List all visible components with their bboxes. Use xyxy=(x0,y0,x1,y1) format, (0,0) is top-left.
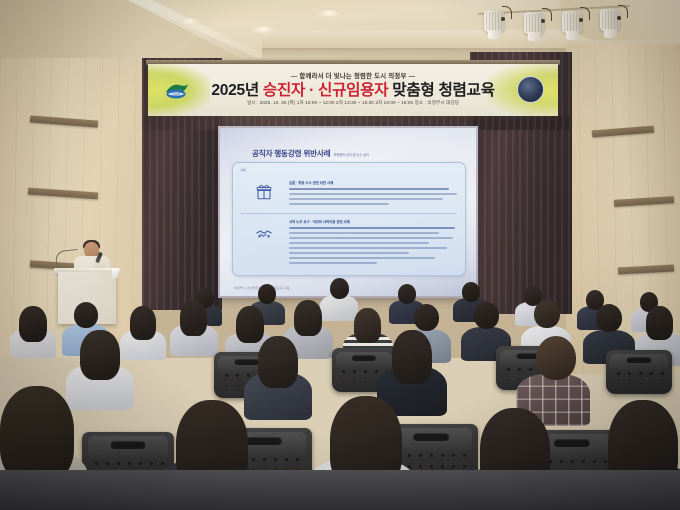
handshake-icon xyxy=(255,225,273,243)
recessed-downlight xyxy=(178,18,200,26)
slide-title: 공직자 행동강령 위반사례부정청탁 금지 및 수수 금지 xyxy=(252,148,369,159)
slide-section-tag: 사례 xyxy=(240,168,246,172)
projection-screen: 공직자 행동강령 위반사례부정청탁 금지 및 수수 금지 사례 금품 · 향응 … xyxy=(218,126,478,298)
banner-text-block: — 함께라서 더 빛나는 청렴한 도시 의정부 — 2025년 승진자 · 신규… xyxy=(211,74,494,106)
svg-text:의정부: 의정부 xyxy=(172,92,181,97)
banner-details: 일시 : 2025. 10. 30.(목) 1차 10:00 ~ 12:00 2… xyxy=(211,101,494,106)
recessed-downlight xyxy=(252,26,274,34)
banner-year: 2025년 xyxy=(211,82,259,99)
recessed-downlight xyxy=(318,10,340,18)
slide-block1-heading: 금품 · 향응 수수 관련 위반 사례 xyxy=(289,180,333,185)
banner-title-tail: 맞춤형 청렴교육 xyxy=(392,82,494,99)
water-bottle xyxy=(112,268,118,278)
track-spotlight xyxy=(522,8,548,42)
track-spotlight xyxy=(598,5,624,39)
banner-tagline: — 함께라서 더 빛나는 청렴한 도시 의정부 — xyxy=(211,74,494,80)
integrity-seal-icon xyxy=(517,76,544,103)
event-banner: 의정부 — 함께라서 더 빛나는 청렴한 도시 의정부 — 2025년 승진자 … xyxy=(148,64,558,116)
slide-title-sub: 부정청탁 금지 및 수수 금지 xyxy=(333,153,368,157)
banner-title: 2025년 승진자 · 신규임용자 맞춤형 청렴교육 xyxy=(211,83,494,99)
auditorium-chair xyxy=(606,350,672,394)
auditorium-photo: 의정부 — 함께라서 더 빛나는 청렴한 도시 의정부 — 2025년 승진자 … xyxy=(0,0,680,510)
banner-audience: 승진자 · 신규임용자 xyxy=(263,82,388,99)
slide-content-card: 사례 금품 · 향응 수수 관련 위반 사례 xyxy=(232,162,466,276)
slide-block2-heading: 사적 노무 요구 · 직위의 사적이용 관련 사례 xyxy=(289,219,350,224)
floor xyxy=(0,470,680,510)
projected-slide: 공직자 행동강령 위반사례부정청탁 금지 및 수수 금지 사례 금품 · 향응 … xyxy=(220,128,476,296)
city-emblem-icon: 의정부 xyxy=(164,77,190,101)
track-spotlight xyxy=(482,6,508,40)
track-spotlight xyxy=(560,7,586,41)
gift-box-icon xyxy=(255,183,273,201)
